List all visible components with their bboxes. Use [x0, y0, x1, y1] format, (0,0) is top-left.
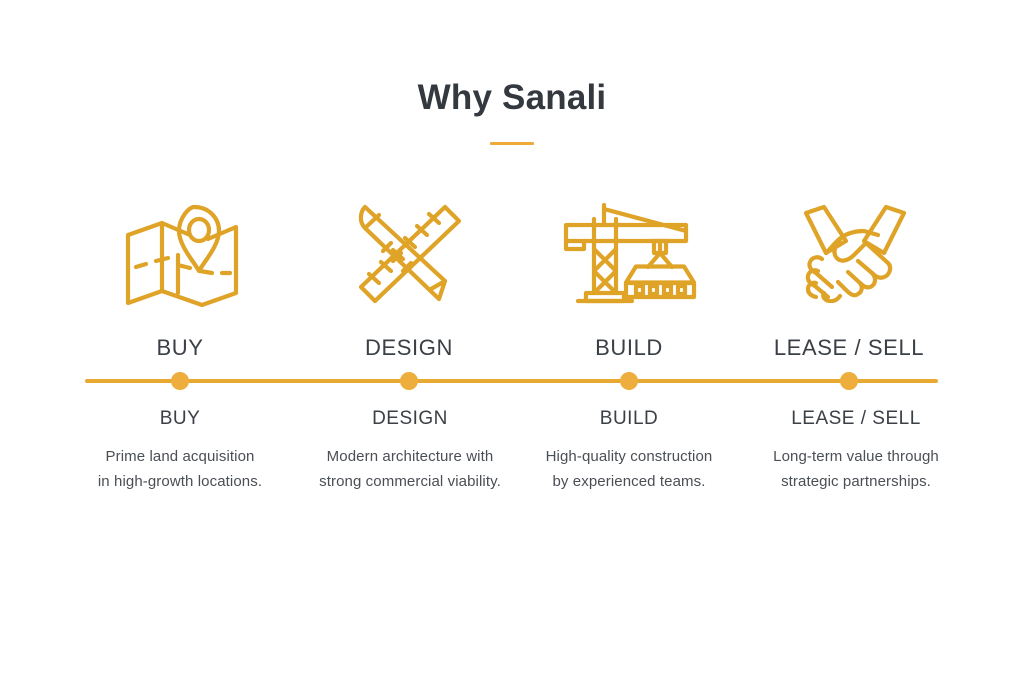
timeline: [85, 372, 938, 390]
ruler-pencil-icon: [341, 197, 469, 307]
timeline-dot-design[interactable]: [400, 372, 418, 390]
timeline-line: [85, 379, 938, 383]
timeline-dot-lease-sell[interactable]: [840, 372, 858, 390]
stage-detail-columns: BUY Prime land acquisition in high-growt…: [0, 406, 1024, 516]
timeline-dot-build[interactable]: [620, 372, 638, 390]
stage-column-buy: BUY Prime land acquisition in high-growt…: [55, 406, 305, 494]
stage-column-lease-sell: LEASE / SELL Long-term value through str…: [731, 406, 981, 494]
stage-description-design-line2: strong commercial viability.: [285, 469, 535, 494]
stage-top-labels: BUY DESIGN BUILD LEASE / SELL: [0, 333, 1024, 363]
icons-row: [0, 196, 1024, 308]
stage-label-build: BUILD: [504, 406, 754, 432]
title-underline-rule: [490, 142, 534, 145]
stage-label-lease-sell: LEASE / SELL: [731, 406, 981, 432]
stage-icon-buy: [107, 196, 257, 308]
stage-description-buy-line2: in high-growth locations.: [55, 469, 305, 494]
stage-icon-build: [555, 196, 705, 308]
timeline-dot-buy[interactable]: [171, 372, 189, 390]
stage-column-build: BUILD High-quality construction by exper…: [504, 406, 754, 494]
stage-description-lease-sell-line1: Long-term value through: [731, 444, 981, 469]
stage-description-design: Modern architecture with strong commerci…: [285, 444, 535, 494]
stage-label-design: DESIGN: [285, 406, 535, 432]
handshake-icon: [784, 201, 926, 303]
map-pin-icon: [116, 197, 248, 307]
top-label-buy: BUY: [50, 333, 310, 363]
page-title: Why Sanali: [0, 76, 1024, 120]
stage-description-lease-sell-line2: strategic partnerships.: [731, 469, 981, 494]
stage-description-build-line2: by experienced teams.: [504, 469, 754, 494]
infographic-page: Why Sanali: [0, 0, 1024, 683]
stage-description-buy-line1: Prime land acquisition: [55, 444, 305, 469]
crane-icon: [560, 197, 700, 307]
stage-description-buy: Prime land acquisition in high-growth lo…: [55, 444, 305, 494]
stage-description-lease-sell: Long-term value through strategic partne…: [731, 444, 981, 494]
stage-description-design-line1: Modern architecture with: [285, 444, 535, 469]
stage-icon-lease-sell: [780, 196, 930, 308]
stage-description-build-line1: High-quality construction: [504, 444, 754, 469]
title-block: Why Sanali: [0, 76, 1024, 145]
stage-label-buy: BUY: [55, 406, 305, 432]
top-label-lease-sell: LEASE / SELL: [719, 333, 979, 363]
stage-description-build: High-quality construction by experienced…: [504, 444, 754, 494]
stage-column-design: DESIGN Modern architecture with strong c…: [285, 406, 535, 494]
stage-icon-design: [330, 196, 480, 308]
